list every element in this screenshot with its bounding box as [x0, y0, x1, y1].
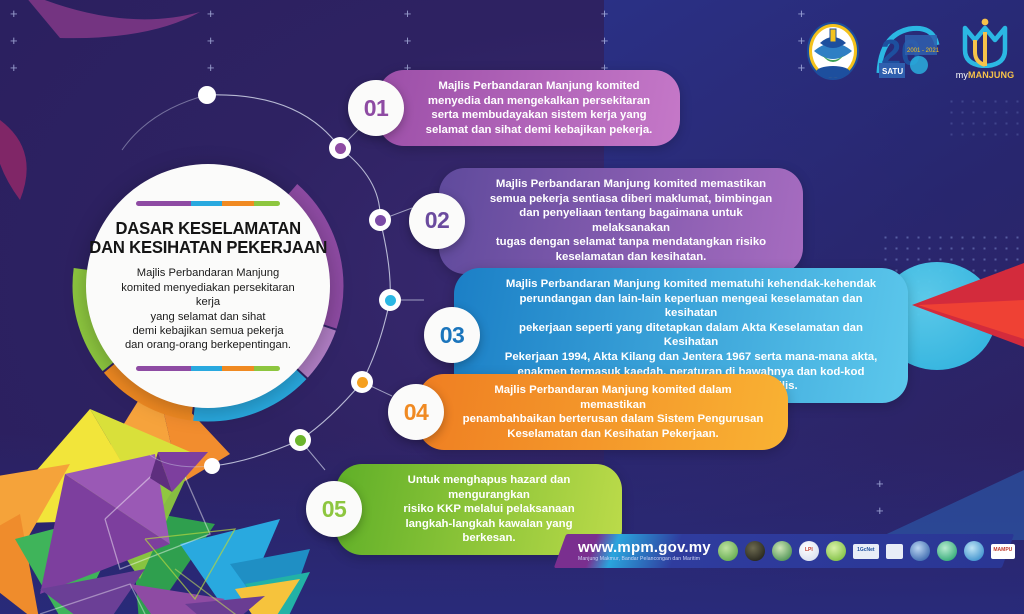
connector-node-3 [379, 289, 401, 311]
policy-line-5: dan orang-orang berkepentingan. [108, 338, 308, 352]
badge-label: 01 [364, 95, 389, 122]
anniversary-logo: 20 2001 - 2021 SATU [875, 21, 941, 83]
partner-logo-9 [937, 541, 957, 561]
svg-text:2001 - 2021: 2001 - 2021 [907, 48, 940, 54]
policy-line-3: yang selamat dan sihat [108, 310, 308, 324]
divider-bar-top [136, 201, 280, 206]
divider-bar-bottom [136, 366, 280, 371]
policy-line-1: Majlis Perbandaran Manjung [108, 266, 308, 280]
partner-logo-1 [718, 541, 738, 561]
badge-label: 05 [322, 496, 347, 523]
svg-text:SATU: SATU [882, 67, 903, 76]
policy-card: DASAR KESELAMATAN DAN KESIHATAN PEKERJAA… [86, 164, 330, 408]
mskq-logo [826, 541, 846, 561]
badge-label: 04 [404, 399, 429, 426]
page-title: DASAR KESELAMATAN DAN KESIHATAN PEKERJAA… [89, 219, 327, 257]
badge-number-02: 02 [409, 193, 465, 249]
badge-label: 03 [440, 322, 465, 349]
partner-logo-10 [964, 541, 984, 561]
mpm-crest-logo [804, 19, 862, 85]
website-tagline: Manjung Makmur, Bandar Pelancongan dan M… [578, 556, 711, 562]
footer-bar: www.mpm.gov.my Manjung Makmur, Bandar Pe… [560, 534, 1008, 568]
mymanjung-wordmark: myMANJUNG [956, 70, 1014, 80]
logo-group: 20 2001 - 2021 SATU myMANJUNG [804, 18, 1016, 86]
partner-logo-3 [772, 541, 792, 561]
badge-label: 02 [425, 207, 450, 234]
list-item-04[interactable]: 04 Majlis Perbandaran Manjung komited da… [388, 374, 788, 450]
policy-line-4: demi kebajikan semua pekerja [108, 324, 308, 338]
badge-number-03: 03 [424, 307, 480, 363]
mampu-logo: MAMPU [991, 544, 1015, 559]
list-item-02[interactable]: 02 Majlis Perbandaran Manjung komited me… [409, 168, 803, 274]
badge-number-01: 01 [348, 80, 404, 136]
partner-logo-2 [745, 541, 765, 561]
website-block[interactable]: www.mpm.gov.my Manjung Makmur, Bandar Pe… [578, 540, 711, 562]
pill-text-04: Majlis Perbandaran Manjung komited dalam… [418, 374, 788, 450]
partner-logo-8 [910, 541, 930, 561]
list-item-01[interactable]: 01 Majlis Perbandaran Manjung komited me… [348, 70, 680, 146]
poster-canvas: + + + + + + + + + + + + + + + + + + + + … [0, 0, 1024, 614]
page-title-line-1: DASAR KESELAMATAN [89, 219, 327, 238]
pill-text-01: Majlis Perbandaran Manjung komited menye… [378, 70, 680, 146]
badge-number-04: 04 [388, 384, 444, 440]
connector-node-5 [289, 429, 311, 451]
website-url[interactable]: www.mpm.gov.my [578, 540, 711, 555]
pill-text-02: Majlis Perbandaran Manjung komited memas… [439, 168, 803, 274]
mymanjung-logo: myMANJUNG [954, 18, 1016, 86]
connector-node-2 [369, 209, 391, 231]
page-title-line-2: DAN KESIHATAN PEKERJAAN [89, 238, 327, 257]
policy-line-2: komited menyediakan persekitaran kerja [108, 281, 308, 310]
1genet-logo: 1GcNet [853, 544, 879, 559]
connector-node-4 [351, 371, 373, 393]
partner-logo-7 [886, 544, 903, 559]
policy-statement: Majlis Perbandaran Manjung komited menye… [108, 266, 308, 352]
partner-logo-4: LPI [799, 541, 819, 561]
